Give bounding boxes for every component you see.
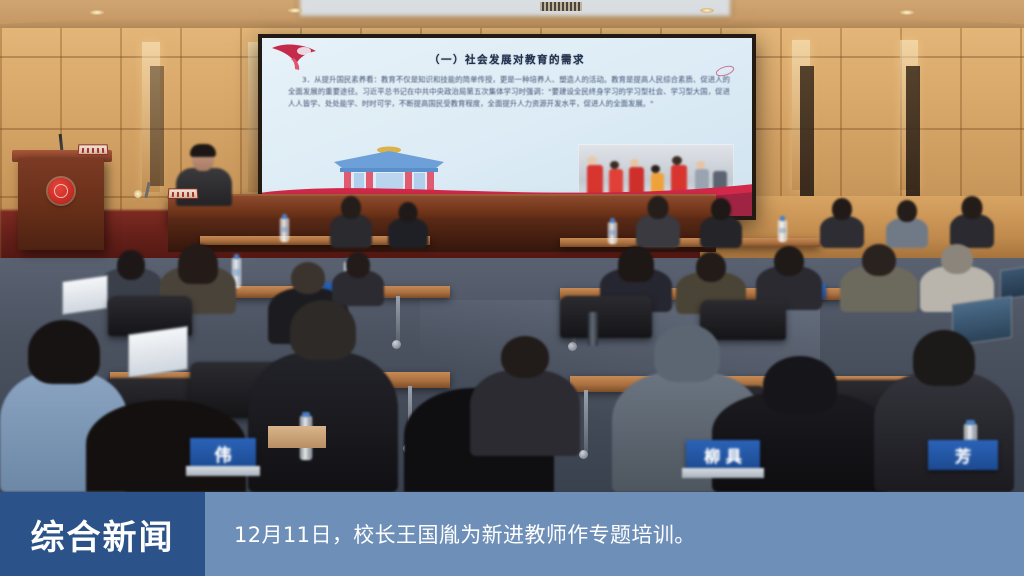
water-bottle-b1 <box>280 218 289 242</box>
laptop-m2 <box>1000 268 1024 298</box>
slide-title: （一）社会发展对教育的需求 <box>262 52 752 67</box>
speaker-glasses-icon <box>193 155 213 160</box>
head-table-nameplate <box>168 188 199 198</box>
audience-person-b1 <box>330 196 372 248</box>
podium-nameplate <box>78 144 109 154</box>
conference-photo: （一）社会发展对教育的需求 3．从提升国民素养看：教育不仅是知识和技能的简单传授… <box>0 0 1024 492</box>
news-category-badge[interactable]: 综合新闻 <box>0 492 205 576</box>
audience-person-b5 <box>820 198 864 248</box>
nameplate-tent-right: 芳 <box>928 440 998 470</box>
audience-person-b4 <box>700 198 742 248</box>
water-bottle-b3 <box>778 220 787 242</box>
audience-person-b2 <box>388 202 428 248</box>
audience-person-f3 <box>248 300 398 492</box>
thermos-f1 <box>588 312 598 346</box>
news-caption-banner: 综合新闻 12月11日，校长王国胤为新进教师作专题培训。 <box>0 492 1024 576</box>
nameplate-tent-left: 伟 <box>190 438 256 468</box>
ceiling-light-1 <box>288 8 302 13</box>
ceiling-speaker-grille <box>540 2 582 11</box>
wall-recess-2 <box>906 66 920 216</box>
laptop-f1 <box>128 330 188 374</box>
audience-person-m4 <box>332 252 384 306</box>
nameplate-tent-center: 柳 具 <box>686 440 760 470</box>
ceiling-light-4 <box>90 10 104 15</box>
projection-screen: （一）社会发展对教育的需求 3．从提升国民素养看：教育不仅是知识和技能的简单传授… <box>258 34 756 220</box>
podium <box>18 158 104 250</box>
ceiling-light-2 <box>700 8 714 13</box>
audience-person-b6 <box>886 200 928 248</box>
audience-person-m8 <box>840 244 918 312</box>
news-caption-area: 12月11日，校长王国胤为新进教师作专题培训。 <box>205 492 1024 576</box>
ceiling-light-3 <box>900 10 914 15</box>
slide-surface: （一）社会发展对教育的需求 3．从提升国民素养看：教育不仅是知识和技能的简单传授… <box>262 38 752 216</box>
desk-leg-4 <box>584 390 588 452</box>
nameplate-base-center <box>682 468 764 478</box>
news-photo-screenshot: （一）社会发展对教育的需求 3．从提升国民素养看：教育不仅是知识和技能的简单传授… <box>0 0 1024 576</box>
audience-person-f8 <box>470 336 580 456</box>
school-emblem-icon <box>48 178 74 204</box>
laptop-m1 <box>62 278 108 312</box>
audience-person-b7 <box>950 196 994 248</box>
news-category-label: 综合新闻 <box>31 510 175 559</box>
paper-sheet <box>268 426 326 448</box>
water-bottle-b2 <box>608 222 617 244</box>
audience-person-b3 <box>636 196 680 248</box>
upper-back-screen <box>300 0 730 16</box>
wall-recess-3 <box>150 66 164 186</box>
desk-caster-4 <box>579 450 588 459</box>
news-caption-text: 12月11日，校长王国胤为新进教师作专题培训。 <box>234 519 696 549</box>
nameplate-base-left <box>186 466 260 476</box>
slide-body-text: 3．从提升国民素养看：教育不仅是知识和技能的简单传授，更是一种培养人、塑造人的活… <box>288 74 730 110</box>
table-lamp-glow <box>134 190 142 198</box>
speaker-body <box>176 168 232 206</box>
